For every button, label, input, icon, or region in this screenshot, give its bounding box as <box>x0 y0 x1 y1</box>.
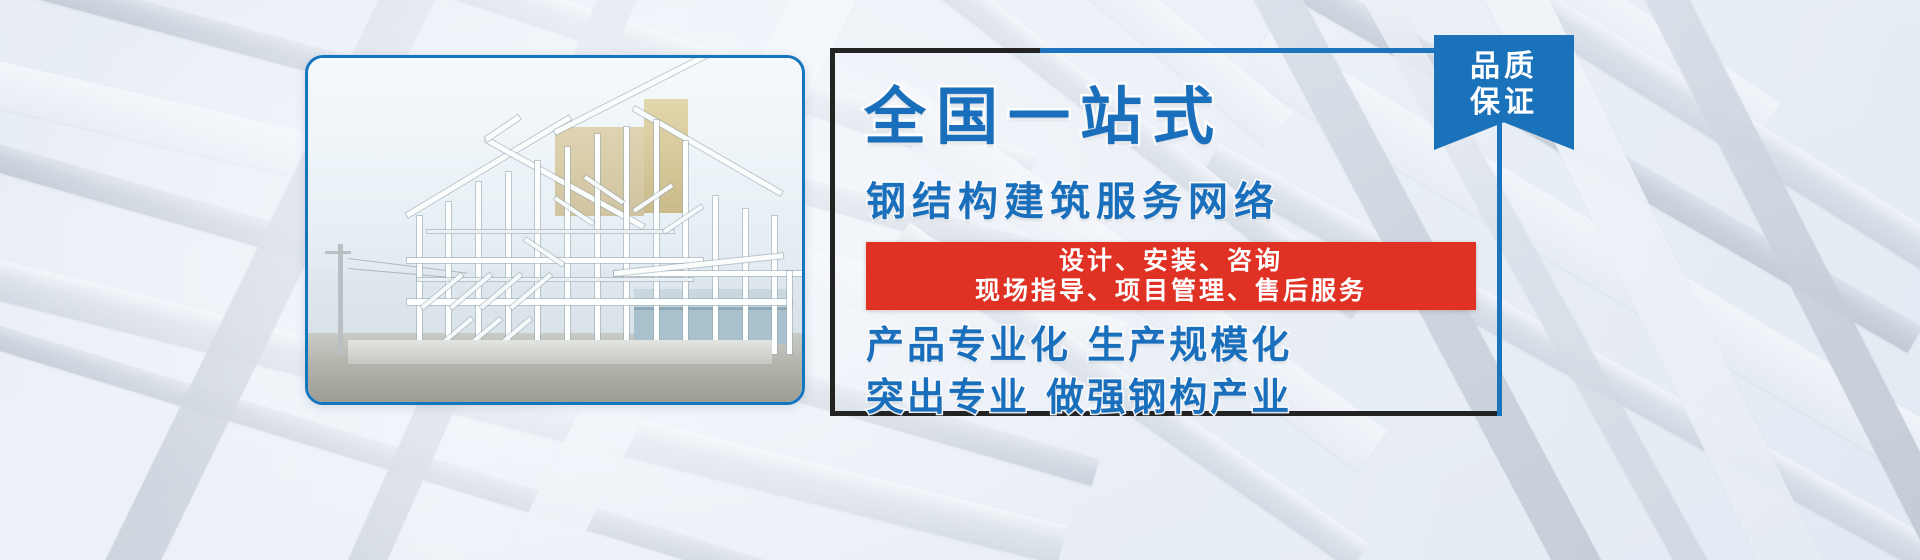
photo-frame-plate <box>407 299 792 305</box>
service-list-box: 设计、安装、咨询 现场指导、项目管理、售后服务 <box>866 242 1476 310</box>
photo-porch-post <box>787 271 792 354</box>
photo-frame-stud <box>772 216 777 354</box>
slogan-line-1: 产品专业化 生产规模化 <box>866 326 1292 364</box>
photo-frame-stud <box>565 147 570 353</box>
service-line-2: 现场指导、项目管理、售后服务 <box>975 276 1367 306</box>
photo-frame-stud <box>595 134 600 354</box>
photo-frame-stud <box>654 120 659 354</box>
photo-concrete-slab <box>348 340 773 364</box>
content-frame: 全国一站式 钢结构建筑服务网络 设计、安装、咨询 现场指导、项目管理、售后服务 … <box>830 48 1502 416</box>
photo-image <box>308 58 802 402</box>
photo-frame-stud <box>506 172 511 354</box>
photo-frame-plate <box>427 230 674 233</box>
page-title: 全国一站式 <box>864 86 1224 148</box>
promo-banner: 全国一站式 钢结构建筑服务网络 设计、安装、咨询 现场指导、项目管理、售后服务 … <box>0 0 1920 560</box>
photo-frame-stud <box>417 216 422 354</box>
page-subtitle: 钢结构建筑服务网络 <box>866 182 1280 222</box>
hero-photo <box>305 55 805 405</box>
photo-frame-stud <box>624 127 629 354</box>
badge-line-1: 品质 <box>1470 49 1538 85</box>
badge-line-2: 保证 <box>1470 85 1538 121</box>
slogan-line-2: 突出专业 做强钢构产业 <box>866 378 1292 416</box>
photo-pole-crossarm <box>325 251 351 254</box>
service-line-1: 设计、安装、咨询 <box>1059 246 1283 276</box>
photo-utility-pole <box>338 244 343 354</box>
frame-border-left <box>830 48 835 416</box>
marketing-text-column: 全国一站式 钢结构建筑服务网络 设计、安装、咨询 现场指导、项目管理、售后服务 … <box>850 48 1488 416</box>
photo-frame-stud <box>683 141 688 354</box>
photo-frame-stud <box>476 182 481 354</box>
photo-frame-stud <box>743 209 748 353</box>
